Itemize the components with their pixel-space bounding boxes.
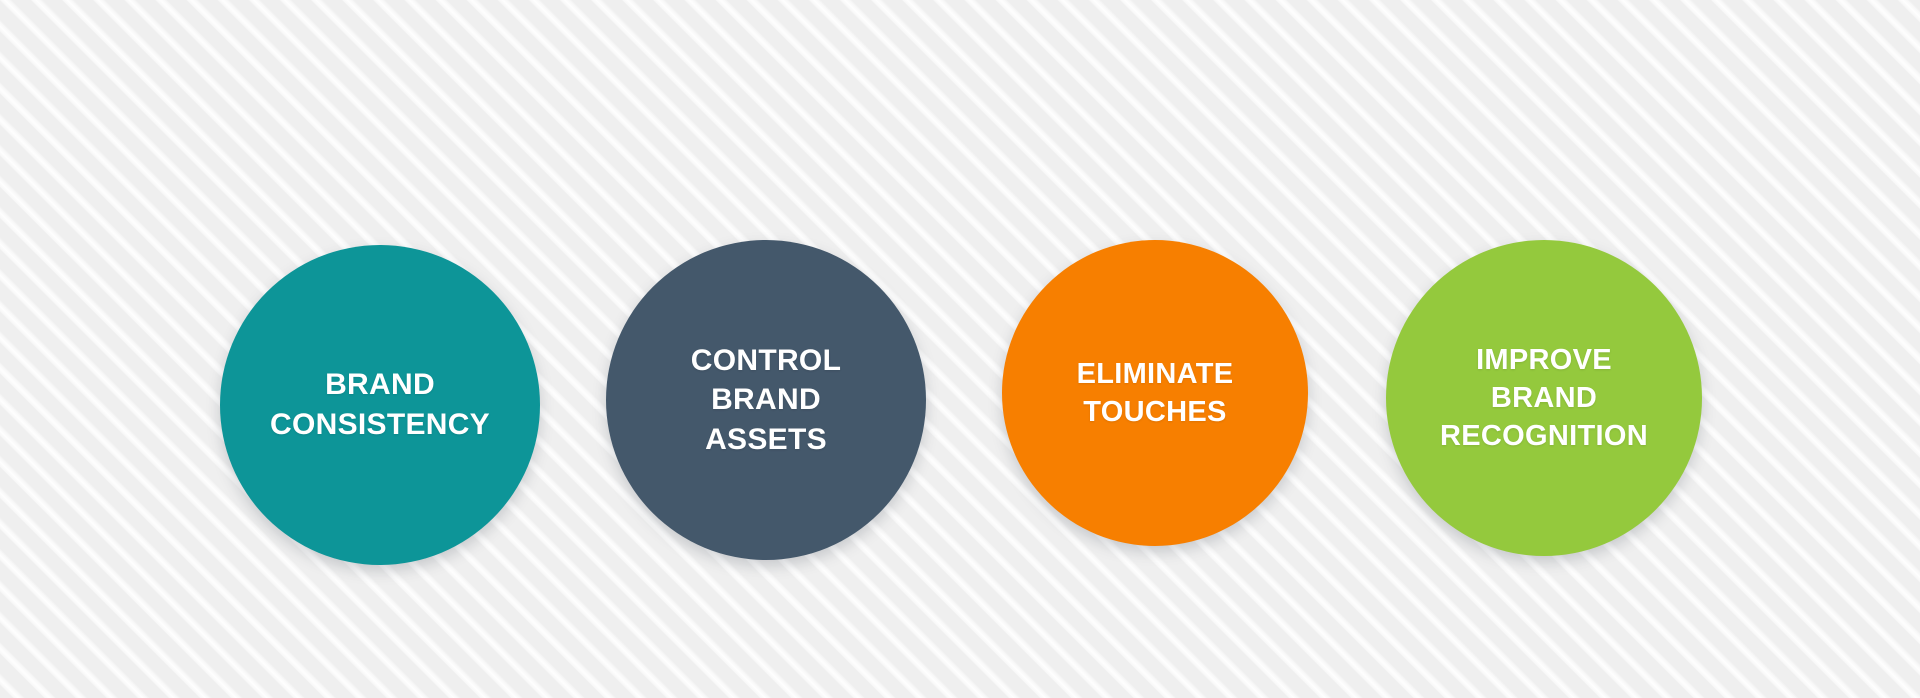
circle-eliminate-touches[interactable]: ELIMINATE TOUCHES [1002, 240, 1308, 546]
circle-label-brand-consistency: BRAND CONSISTENCY [270, 365, 490, 444]
circle-label-improve-brand-recognition: IMPROVE BRAND RECOGNITION [1440, 341, 1648, 456]
circle-control-brand-assets[interactable]: CONTROL BRAND ASSETS [606, 240, 926, 560]
circle-row: BRAND CONSISTENCY CONTROL BRAND ASSETS E… [0, 0, 1920, 698]
brand-pillars-infographic: BRAND CONSISTENCY CONTROL BRAND ASSETS E… [0, 0, 1920, 698]
circle-improve-brand-recognition[interactable]: IMPROVE BRAND RECOGNITION [1386, 240, 1702, 556]
circle-label-eliminate-touches: ELIMINATE TOUCHES [1077, 355, 1234, 432]
circle-brand-consistency[interactable]: BRAND CONSISTENCY [220, 245, 540, 565]
circle-label-control-brand-assets: CONTROL BRAND ASSETS [691, 341, 841, 460]
